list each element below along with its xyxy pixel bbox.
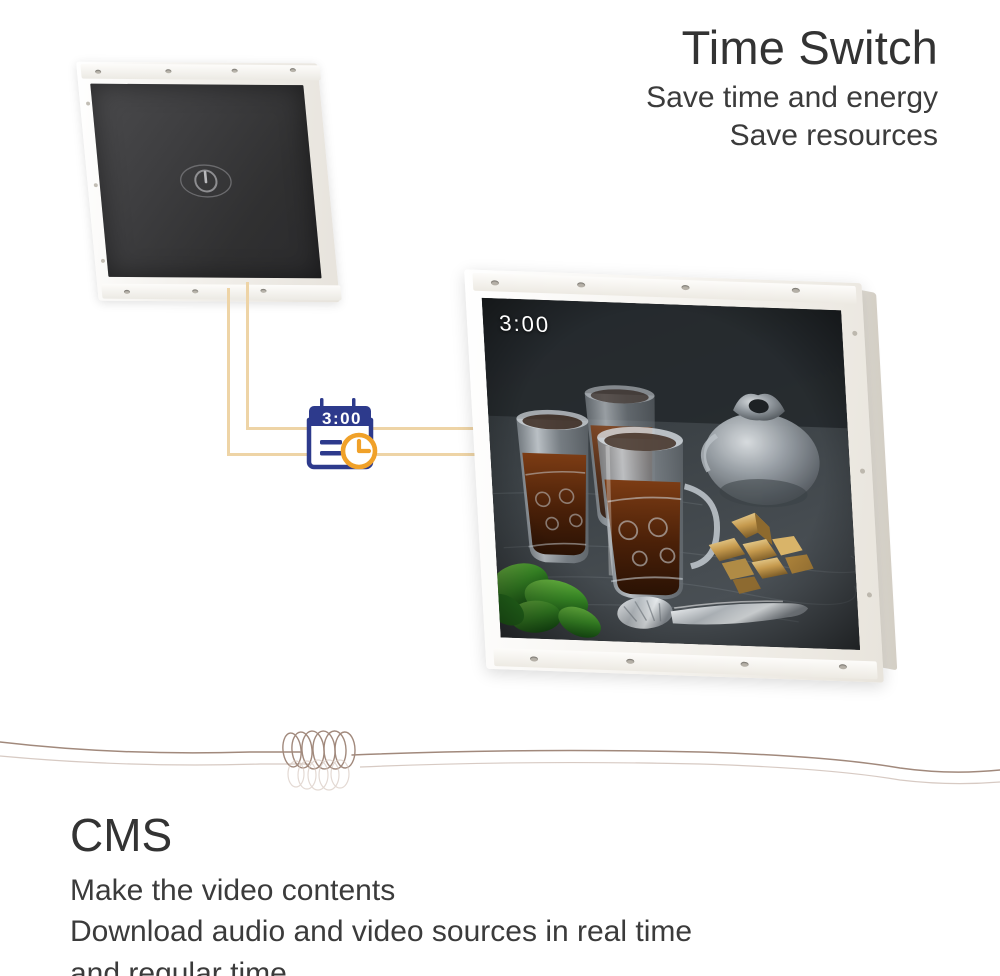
- wire-coil-divider: [0, 712, 1000, 798]
- mounting-hole-icon: [852, 331, 857, 336]
- mounting-hole-icon: [165, 69, 171, 73]
- headline-subtitle-line-2: Save resources: [646, 117, 938, 155]
- mounting-hole-icon: [839, 664, 847, 669]
- mounting-hole-icon: [681, 285, 689, 290]
- page-title: Time Switch: [646, 24, 938, 71]
- wire-vertical-upper: [246, 282, 249, 430]
- monitor-on-screen: 3:00: [482, 298, 860, 650]
- mounting-hole-icon: [192, 289, 198, 293]
- mounting-hole-icon: [626, 659, 634, 664]
- cms-text-block: CMS Make the video contents Download aud…: [70, 812, 692, 976]
- mounting-hole-icon: [260, 289, 266, 293]
- wire-vertical-lower: [227, 288, 230, 455]
- mounting-hole-icon: [860, 469, 865, 474]
- mounting-hole-icon: [792, 288, 800, 293]
- mounting-hole-icon: [95, 70, 101, 74]
- mounting-hole-icon: [101, 259, 105, 263]
- monitor-off-top-flange: [80, 64, 321, 81]
- product-feature-page: Time Switch Save time and energy Save re…: [0, 0, 1000, 976]
- mounting-hole-icon: [86, 102, 90, 106]
- mounting-hole-icon: [491, 280, 499, 285]
- monitor-off-bottom-flange: [101, 284, 342, 301]
- cms-line-3: and regular time: [70, 953, 692, 976]
- monitor-off-screen: [90, 84, 321, 279]
- headline-subtitle-line-1: Save time and energy: [646, 79, 938, 117]
- mounting-hole-icon: [231, 69, 237, 73]
- cms-title: CMS: [70, 812, 692, 858]
- video-overlay-clock: 3:00: [498, 310, 550, 338]
- time-switch-headline-block: Time Switch Save time and energy Save re…: [646, 24, 938, 156]
- mounting-hole-icon: [124, 290, 130, 294]
- mounting-hole-icon: [577, 282, 585, 287]
- timer-icon-time-label: 3:00: [296, 409, 388, 429]
- calendar-clock-icon[interactable]: 3:00: [296, 398, 388, 470]
- video-content-image: [482, 298, 860, 650]
- mounting-hole-icon: [530, 656, 538, 661]
- mounting-hole-icon: [867, 592, 872, 597]
- cms-line-1: Make the video contents: [70, 870, 692, 911]
- mounting-hole-icon: [290, 68, 296, 72]
- mounting-hole-icon: [94, 183, 98, 187]
- power-icon: [176, 161, 236, 201]
- monitor-playing-video[interactable]: 3:00: [464, 269, 884, 682]
- monitor-powered-off[interactable]: [76, 62, 340, 303]
- mounting-hole-icon: [740, 662, 748, 667]
- cms-line-2: Download audio and video sources in real…: [70, 911, 692, 952]
